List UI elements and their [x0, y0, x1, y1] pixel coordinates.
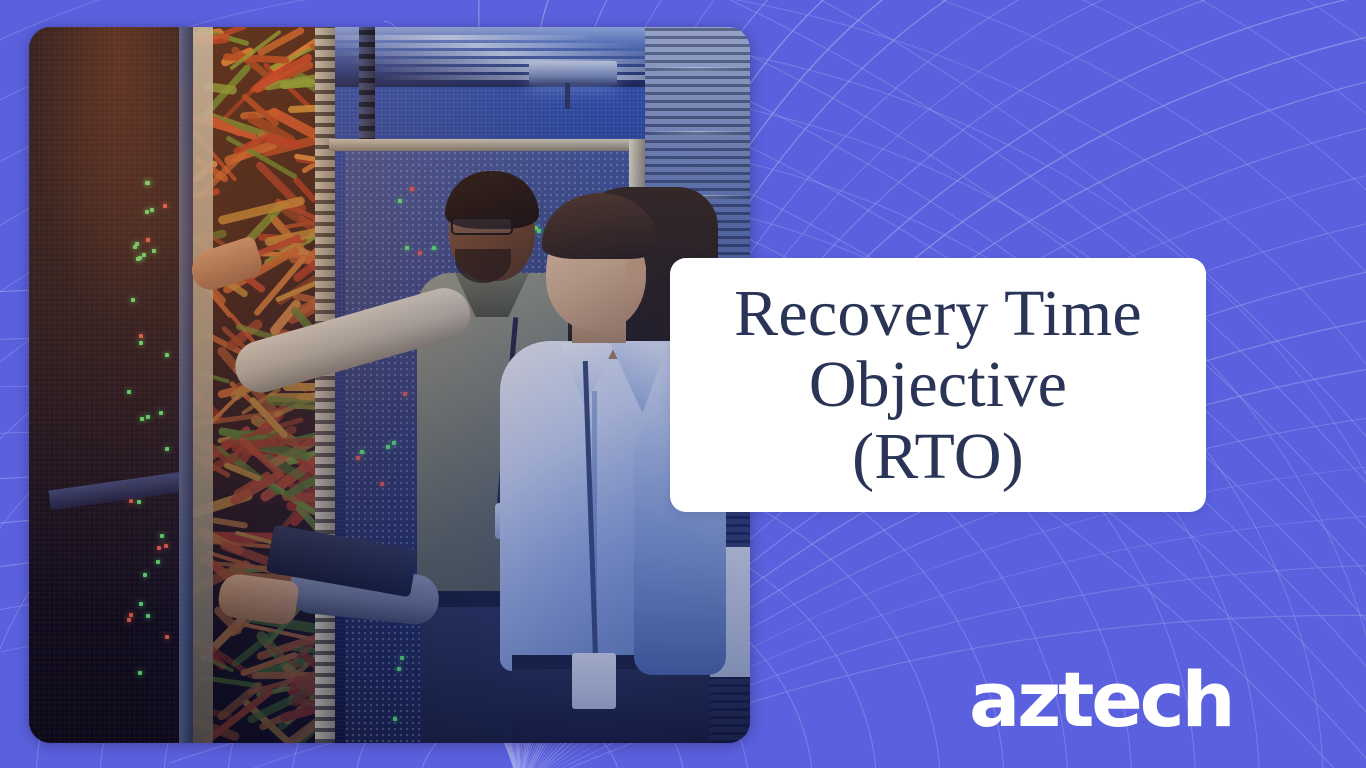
status-led [129, 613, 133, 617]
status-led [138, 671, 142, 675]
overhead-light-fixture [529, 61, 617, 85]
status-led [137, 500, 141, 504]
status-led [156, 560, 160, 564]
status-led [143, 573, 147, 577]
status-led [140, 417, 144, 421]
page-title: Recovery Time Objective (RTO) [718, 278, 1158, 492]
network-cable [211, 517, 247, 528]
title-card: Recovery Time Objective (RTO) [670, 258, 1206, 512]
aztech-logo: aztech [969, 662, 1232, 738]
hero-photo-card [29, 27, 750, 743]
left-rack-edge-post [179, 27, 193, 743]
rack-rail-front [315, 27, 335, 743]
status-led [146, 415, 150, 419]
status-led [160, 534, 164, 538]
status-led [165, 353, 169, 357]
status-led [127, 390, 131, 394]
status-led [165, 635, 169, 639]
ceiling-light-strip [331, 51, 675, 56]
status-led [139, 602, 143, 606]
female-engineer-ear [626, 255, 646, 283]
status-led [165, 447, 169, 451]
status-led [129, 499, 133, 503]
light-fixture-stem [565, 83, 570, 109]
status-led [159, 411, 163, 415]
cable-guide-panel [193, 27, 213, 743]
status-led [139, 334, 143, 338]
status-led [146, 614, 150, 618]
female-engineer-id-badge [572, 653, 616, 709]
status-led [127, 618, 131, 622]
status-led [157, 546, 161, 550]
status-led [164, 544, 168, 548]
status-led [139, 341, 143, 345]
ceiling-light-strip [299, 35, 599, 40]
left-rack-warm-glow [29, 27, 179, 327]
